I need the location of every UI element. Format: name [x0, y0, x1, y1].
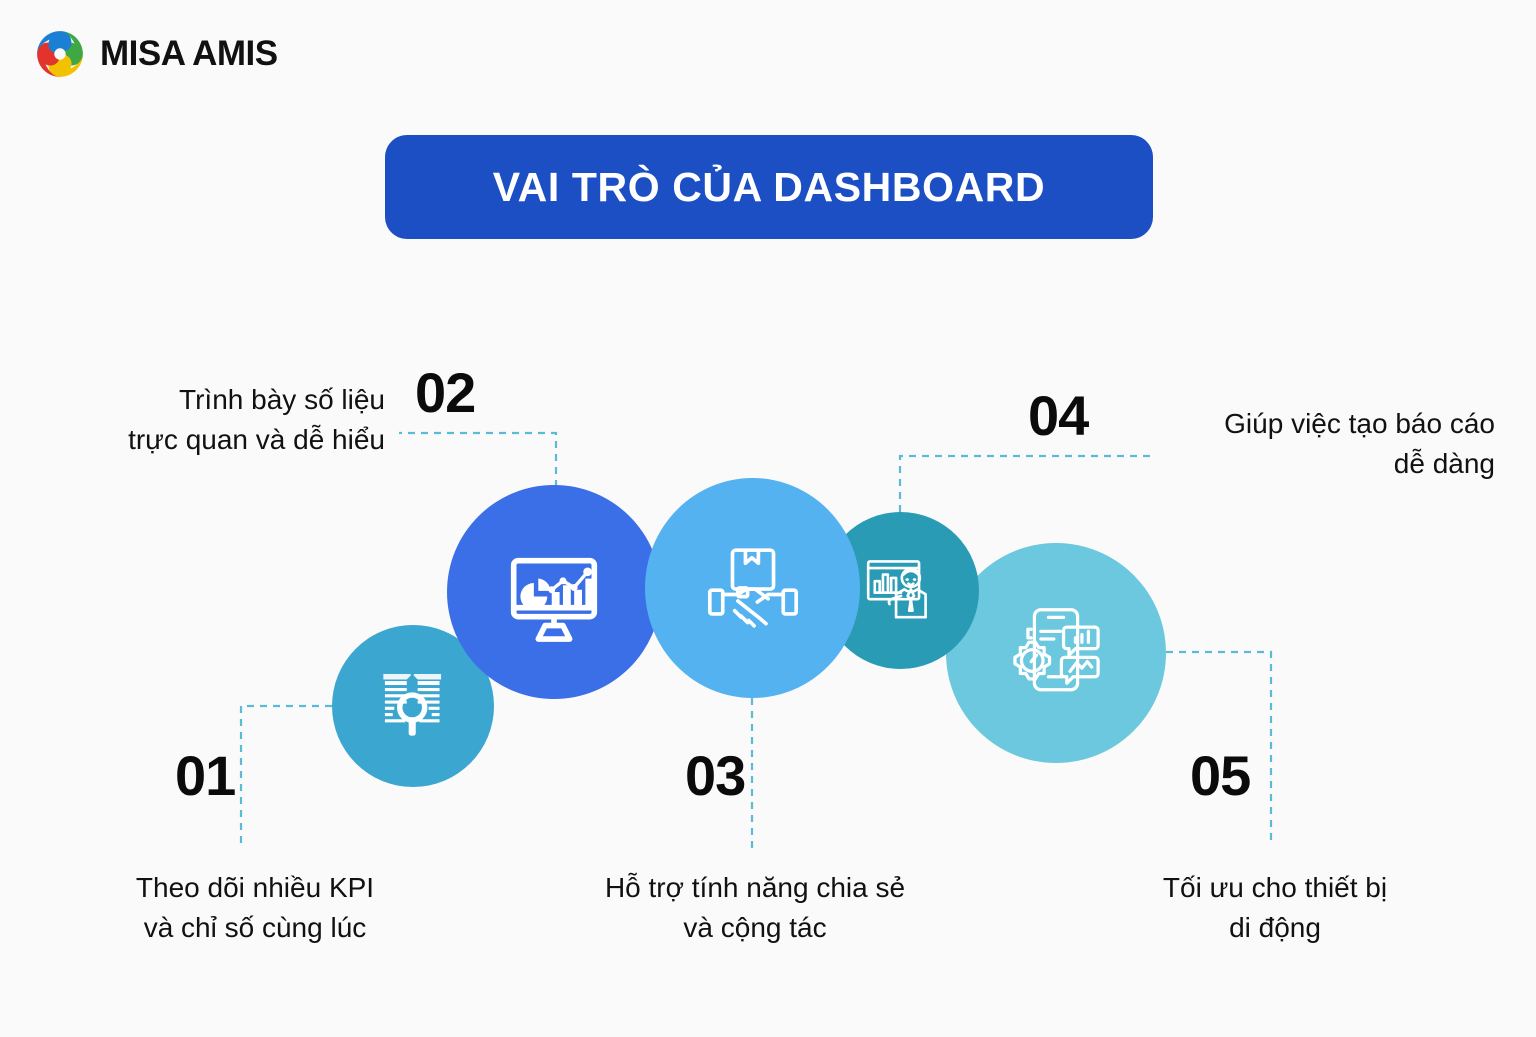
step-caption-02: Trình bày số liệu trực quan và dễ hiểu [20, 380, 385, 460]
connector-01 [241, 706, 332, 845]
step-caption-01: Theo dõi nhiều KPI và chỉ số cùng lúc [60, 868, 450, 948]
step-circle-02[interactable] [447, 485, 661, 699]
misa-swirl-logo-icon [34, 28, 86, 80]
handshake-box-icon [699, 534, 807, 642]
documents-search-icon [374, 667, 452, 745]
mobile-dashboard-icon [1002, 599, 1110, 707]
step-caption-05: Tối ưu cho thiết bị di động [1080, 868, 1470, 948]
page-title: VAI TRÒ CỦA DASHBOARD [493, 164, 1045, 211]
connector-02 [399, 433, 556, 487]
step-number-02: 02 [415, 365, 475, 421]
step-number-04: 04 [1028, 388, 1088, 444]
brand-logo: MISA AMIS [34, 28, 278, 80]
step-number-01: 01 [175, 748, 235, 804]
step-caption-03: Hỗ trợ tính năng chia sẻ và cộng tác [530, 868, 980, 948]
step-circle-03[interactable] [645, 478, 860, 698]
step-caption-04: Giúp việc tạo báo cáo dễ dàng [1155, 404, 1495, 484]
step-number-05: 05 [1190, 748, 1250, 804]
step-number-03: 03 [685, 748, 745, 804]
connector-04 [900, 456, 1150, 512]
monitor-charts-icon [498, 536, 610, 648]
brand-name: MISA AMIS [100, 34, 278, 74]
step-circle-05[interactable] [946, 543, 1166, 763]
title-banner: VAI TRÒ CỦA DASHBOARD [385, 135, 1153, 239]
infographic-canvas: MISA AMIS VAI TRÒ CỦA DASHBOARD [0, 0, 1536, 1037]
presenter-chart-icon [860, 550, 942, 632]
